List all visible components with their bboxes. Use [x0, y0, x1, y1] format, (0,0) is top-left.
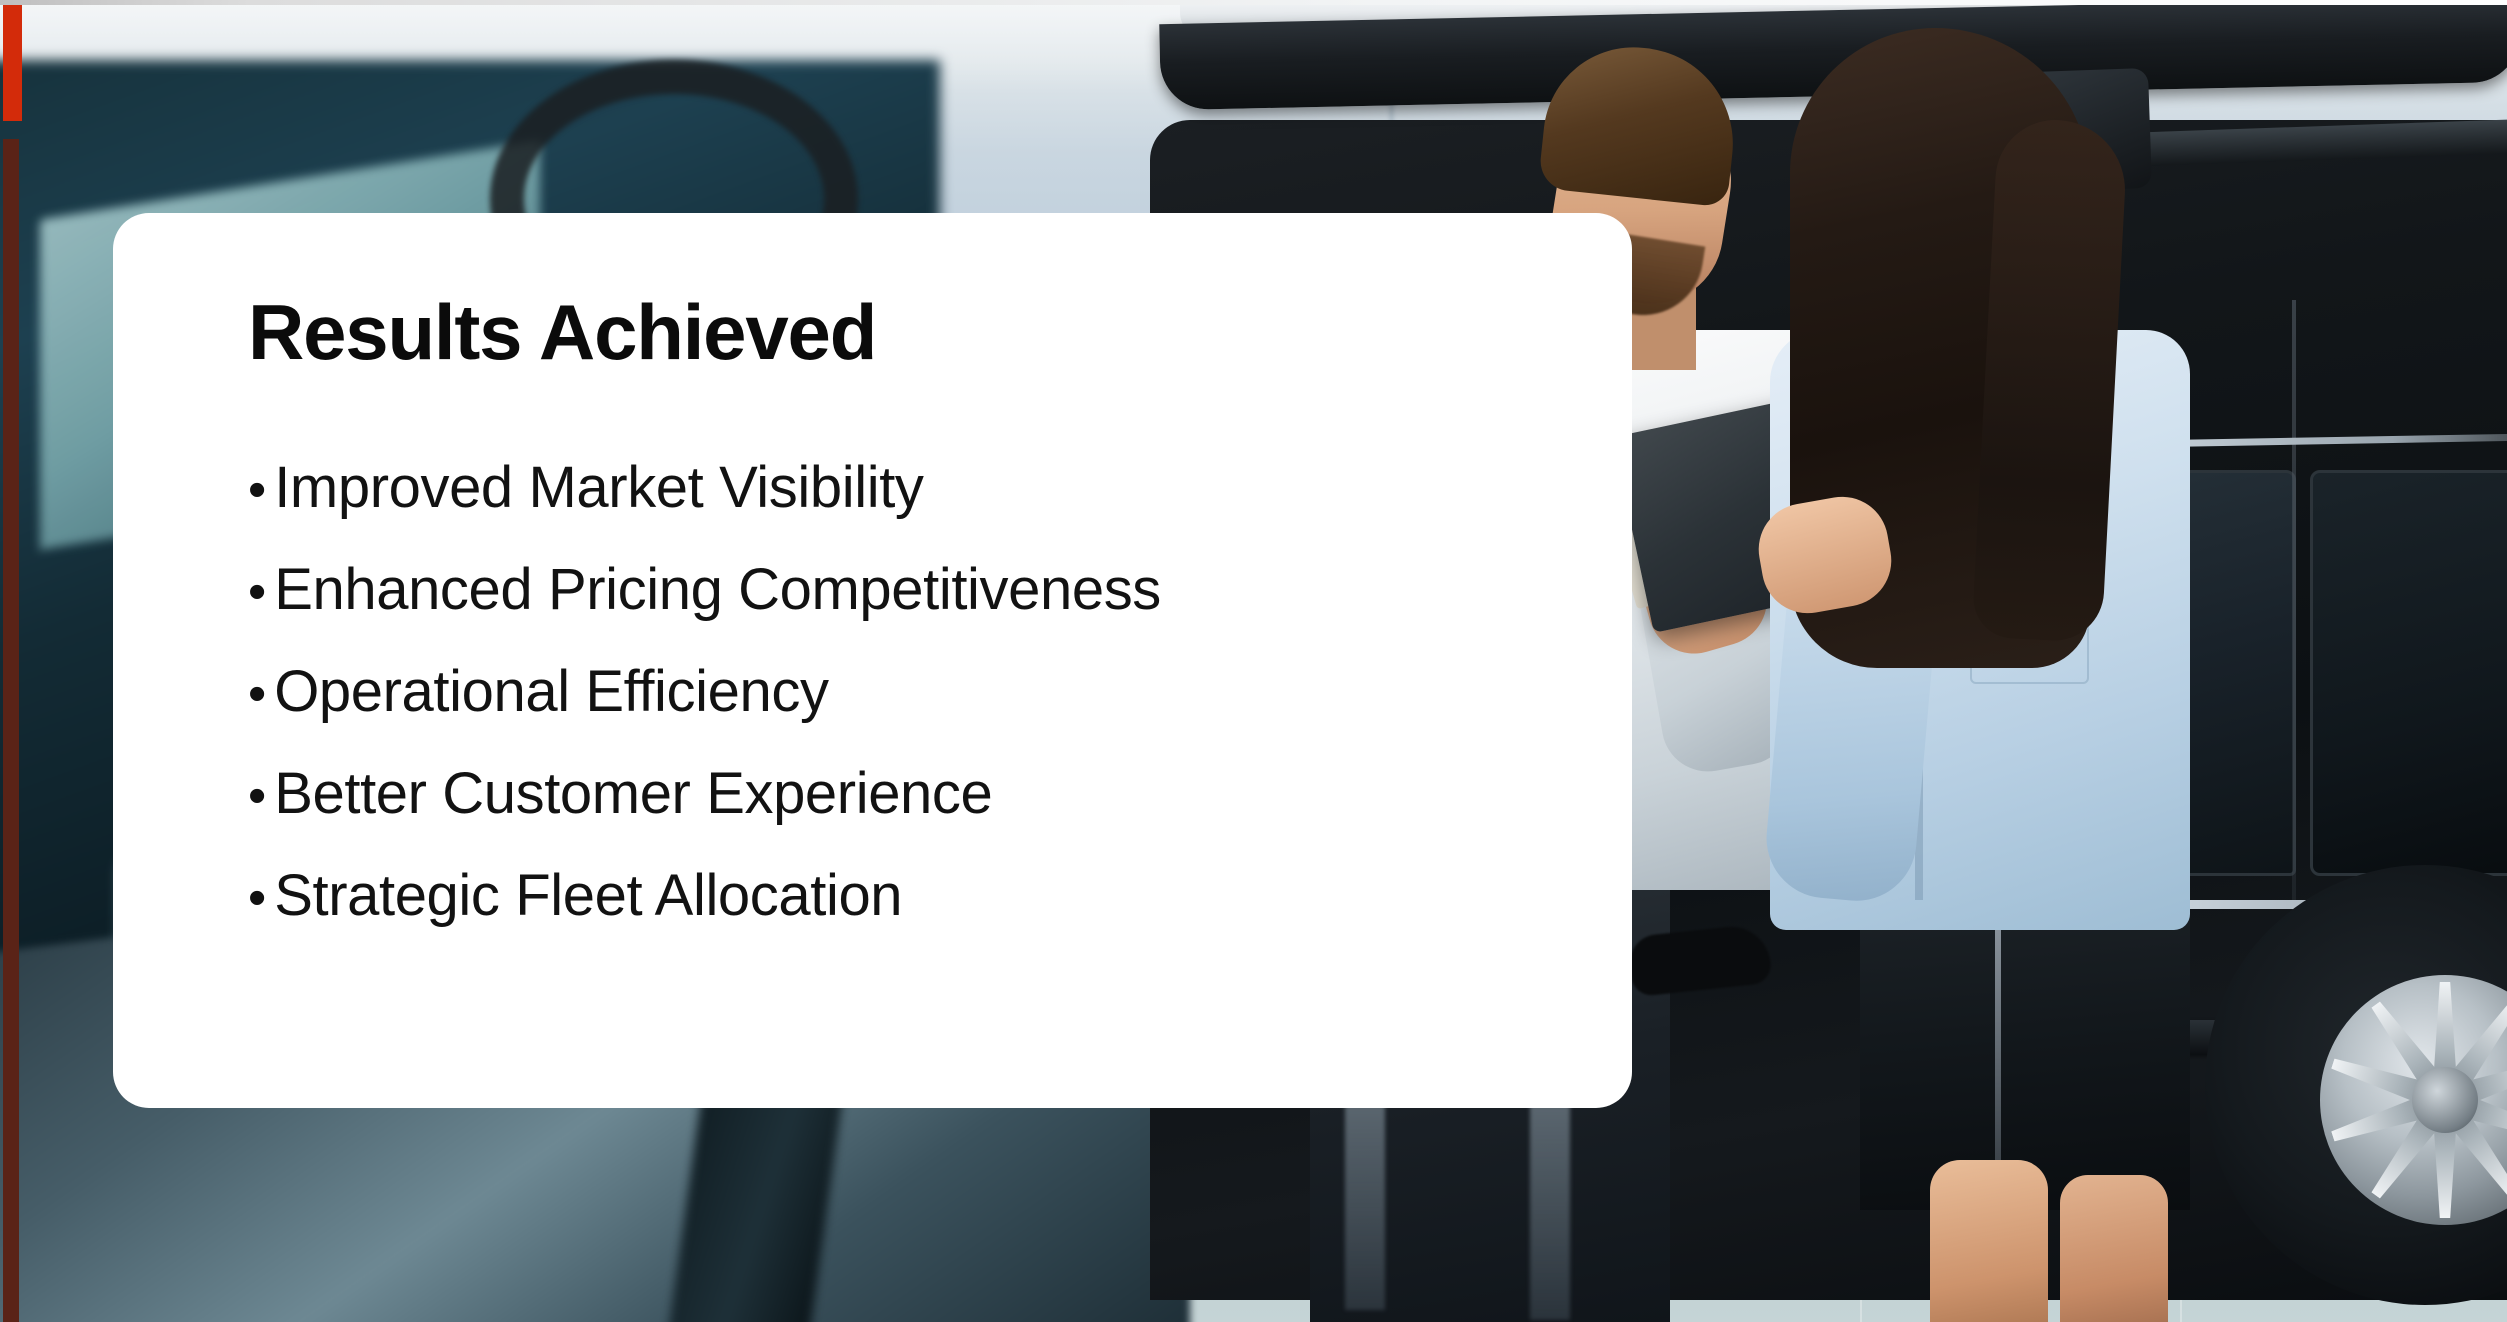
bullet-label: Improved Market Visibility	[274, 459, 923, 517]
top-edge-strip	[0, 0, 2507, 5]
list-item: • Strategic Fleet Allocation	[248, 867, 1562, 925]
customer-skirt-zipper	[1995, 890, 2001, 1190]
bullet-point-icon: •	[248, 872, 266, 924]
accent-bar-red	[3, 5, 22, 121]
page-title: Results Achieved	[248, 293, 1562, 371]
suv-rear-door-window	[2310, 470, 2507, 876]
presentation-slide: Results Achieved • Improved Market Visib…	[0, 0, 2507, 1322]
customer-leg-left	[1930, 1160, 2048, 1322]
list-item: • Better Customer Experience	[248, 765, 1562, 823]
bullet-label: Strategic Fleet Allocation	[274, 867, 902, 925]
bullet-label: Enhanced Pricing Competitiveness	[274, 561, 1161, 619]
bullet-point-icon: •	[248, 464, 266, 516]
customer-leg-right	[2060, 1175, 2168, 1322]
list-item: • Operational Efficiency	[248, 663, 1562, 721]
list-item: • Enhanced Pricing Competitiveness	[248, 561, 1562, 619]
list-item: • Improved Market Visibility	[248, 459, 1562, 517]
bullet-point-icon: •	[248, 770, 266, 822]
bullet-label: Operational Efficiency	[274, 663, 828, 721]
bullet-point-icon: •	[248, 668, 266, 720]
accent-bar-maroon	[3, 139, 19, 1322]
bullet-label: Better Customer Experience	[274, 765, 992, 823]
content-card: Results Achieved • Improved Market Visib…	[113, 213, 1632, 1108]
customer-hair-strand	[1971, 117, 2128, 643]
bullet-point-icon: •	[248, 566, 266, 618]
results-bullet-list: • Improved Market Visibility • Enhanced …	[248, 459, 1562, 925]
